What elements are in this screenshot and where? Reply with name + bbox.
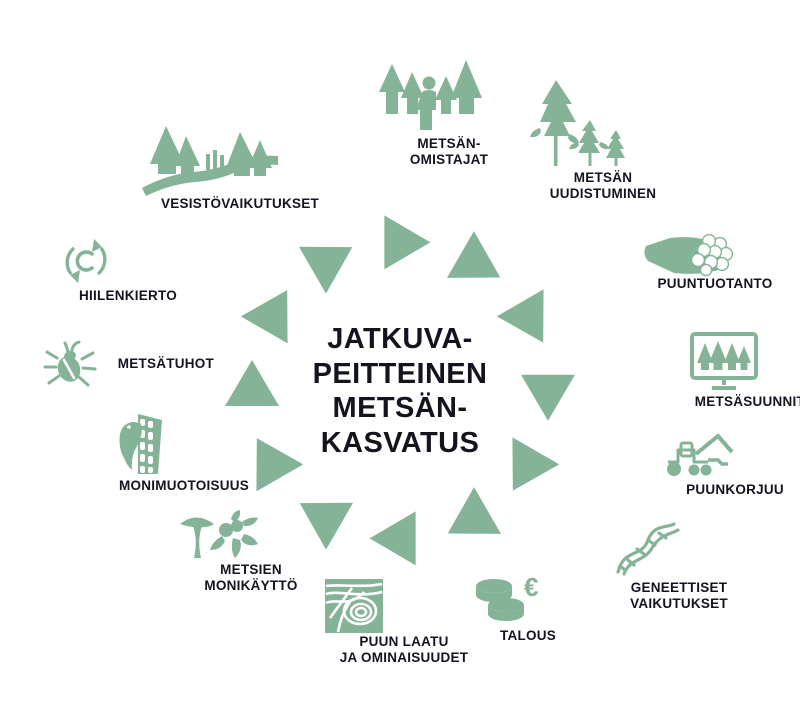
node-label: VESISTÖVAIKUTUKSET bbox=[140, 196, 340, 212]
infographic-canvas: JATKUVA-PEITTEINENMETSÄN-KASVATUS METSÄN… bbox=[0, 0, 800, 726]
svg-text:€: € bbox=[524, 572, 538, 602]
node-metsatuhot[interactable]: METSÄTUHOT bbox=[34, 338, 214, 390]
cycle-arrow-1 bbox=[384, 215, 430, 269]
node-metsasuunnittelu[interactable]: METSÄSUUNNITTELU bbox=[688, 330, 800, 410]
cycle-arrow-6 bbox=[434, 487, 501, 557]
node-puunkorjuu[interactable]: PUUNKORJUU bbox=[660, 432, 800, 498]
node-metsanomistajat[interactable]: METSÄN- OMISTAJAT bbox=[374, 58, 524, 168]
forest-people-icon bbox=[374, 58, 524, 136]
river-forest-icon bbox=[140, 124, 340, 196]
monitor-trees-icon bbox=[688, 330, 800, 394]
node-label: PUUNTUOTANTO bbox=[640, 276, 790, 292]
cycle-arrow-7 bbox=[370, 511, 416, 565]
title-line: JATKUVA- bbox=[290, 322, 510, 357]
wood-grain-icon bbox=[324, 578, 484, 634]
node-hiilenkierto[interactable]: HIILENKIERTO bbox=[58, 234, 198, 304]
node-label: GENEETTISET VAIKUTUKSET bbox=[604, 580, 754, 612]
node-geneettiset-vaikutukset[interactable]: GENEETTISET VAIKUTUKSET bbox=[604, 518, 754, 612]
title-line: PEITTEINEN bbox=[290, 357, 510, 392]
dna-helix-icon bbox=[604, 518, 754, 580]
cycle-arrow-10 bbox=[225, 360, 279, 406]
node-label: PUUN LAATU JA OMINAISUUDET bbox=[324, 634, 484, 666]
carbon-cycle-icon bbox=[58, 234, 198, 288]
node-talous[interactable]: € TALOUS bbox=[468, 572, 588, 644]
node-label: MONIMUOTOISUUS bbox=[104, 478, 264, 494]
tree-saplings-icon bbox=[528, 78, 678, 170]
woodpecker-tree-icon bbox=[104, 412, 264, 478]
cycle-arrow-12 bbox=[299, 224, 366, 294]
title-line: METSÄN- bbox=[290, 391, 510, 426]
cycle-arrow-4 bbox=[521, 375, 575, 421]
node-label: PUUNKORJUU bbox=[660, 482, 800, 498]
beetle-icon bbox=[43, 338, 101, 390]
node-label: METSÄN- OMISTAJAT bbox=[374, 136, 524, 168]
title-line: KASVATUS bbox=[290, 426, 510, 461]
harvester-icon bbox=[660, 432, 800, 482]
log-pile-icon bbox=[640, 228, 790, 276]
coins-euro-icon: € bbox=[468, 572, 588, 628]
node-label: METSÄSUUNNITTELU bbox=[688, 394, 800, 410]
node-label: METSIEN MONIKÄYTTÖ bbox=[176, 562, 326, 594]
node-vesistovaikutukset[interactable]: VESISTÖVAIKUTUKSET bbox=[140, 124, 340, 212]
mushroom-berries-icon bbox=[176, 510, 326, 562]
node-metsan-uudistuminen[interactable]: METSÄN UUDISTUMINEN bbox=[528, 78, 678, 202]
node-puuntuotanto[interactable]: PUUNTUOTANTO bbox=[640, 228, 790, 292]
node-monimuotoisuus[interactable]: MONIMUOTOISUUS bbox=[104, 412, 264, 494]
cycle-arrow-2 bbox=[447, 231, 514, 301]
node-label: HIILENKIERTO bbox=[58, 288, 198, 304]
node-metsien-monikaytto[interactable]: METSIEN MONIKÄYTTÖ bbox=[176, 510, 326, 594]
node-puun-laatu[interactable]: PUUN LAATU JA OMINAISUUDET bbox=[324, 578, 484, 666]
node-label: METSÄN UUDISTUMINEN bbox=[528, 170, 678, 202]
node-label: TALOUS bbox=[468, 628, 588, 644]
node-label: METSÄTUHOT bbox=[118, 356, 214, 372]
page-title: JATKUVA-PEITTEINENMETSÄN-KASVATUS bbox=[290, 322, 510, 460]
